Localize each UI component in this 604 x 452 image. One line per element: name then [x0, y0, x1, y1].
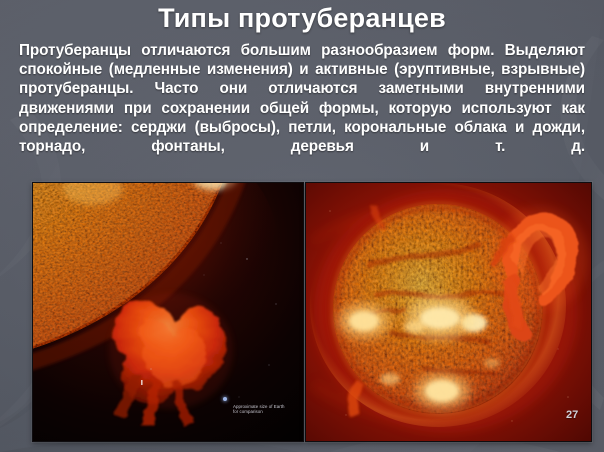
earth-size-caption: Approximate size of Earth for comparison [233, 404, 289, 415]
slide-number: 27 [566, 409, 578, 421]
left-photo-artwork [33, 183, 303, 441]
right-photo-artwork [306, 183, 591, 441]
earth-size-marker [223, 397, 227, 401]
presentation-slide: Типы протуберанцев Протуберанцы отличают… [0, 0, 604, 452]
photo-quiescent-prominence: Approximate size of Earth for comparison [32, 182, 304, 442]
slide-body-text: Протуберанцы отличаются большим разнообр… [19, 41, 585, 175]
slide-title: Типы протуберанцев [0, 1, 604, 35]
photo-eruptive-prominence [305, 182, 592, 442]
